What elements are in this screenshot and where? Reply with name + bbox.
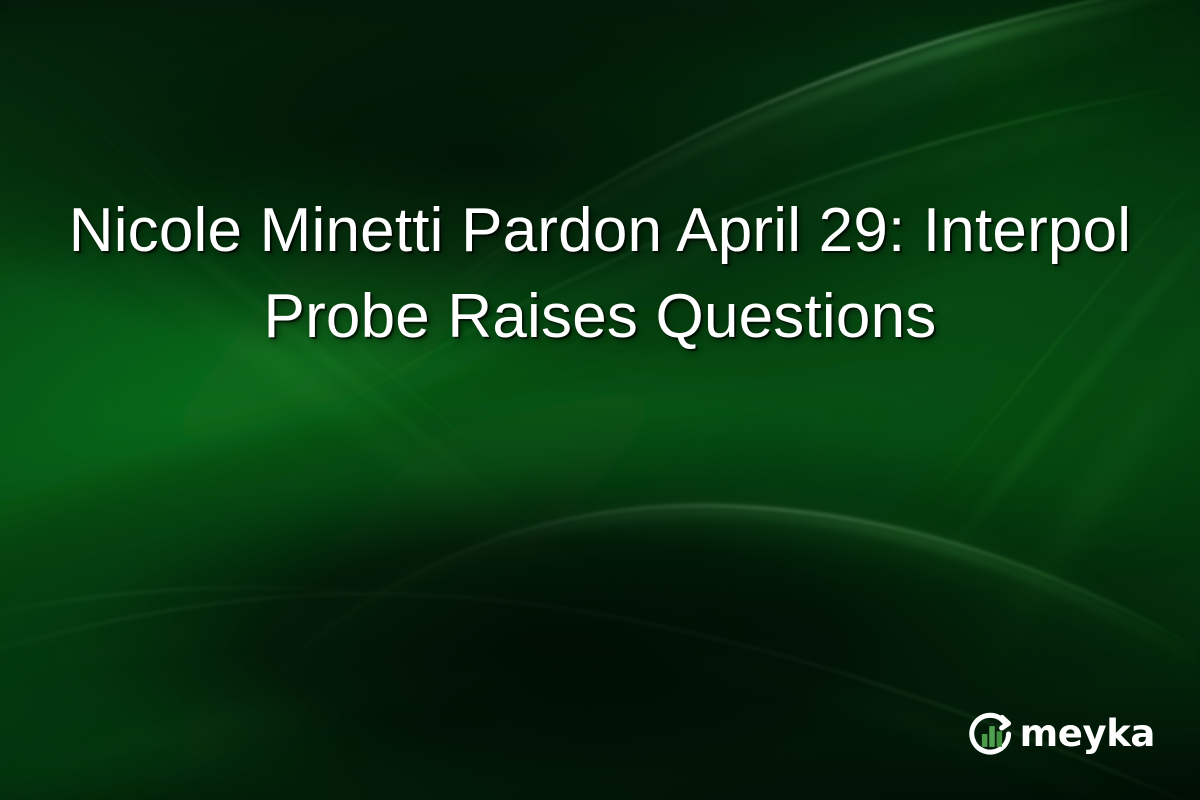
brand-logo-lockup[interactable]: meyka	[969, 711, 1155, 757]
background-wave-streaks	[0, 0, 1200, 800]
share-card: Nicole Minetti Pardon April 29: Interpol…	[0, 0, 1200, 800]
headline-text: Nicole Minetti Pardon April 29: Interpol…	[45, 188, 1155, 360]
meyka-bar-chart-ring-icon	[969, 711, 1015, 757]
brand-wordmark: meyka	[1020, 715, 1155, 754]
headline-container: Nicole Minetti Pardon April 29: Interpol…	[45, 188, 1155, 360]
